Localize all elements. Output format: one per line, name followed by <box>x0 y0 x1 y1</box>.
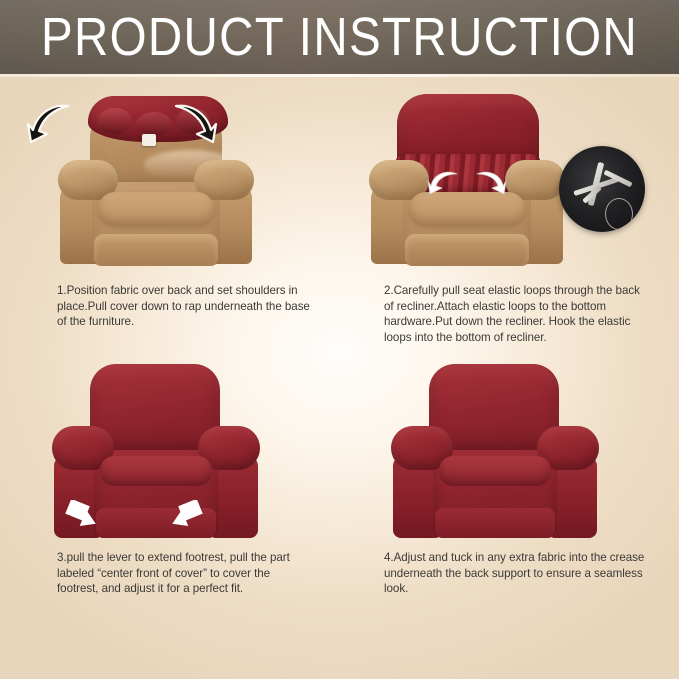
fabric-care-tag <box>142 134 156 146</box>
step-1-caption: 1.Position fabric over back and set shou… <box>57 283 312 330</box>
step-1-arrow-right-icon <box>170 100 220 150</box>
page-title: PRODUCT INSTRUCTION <box>41 8 639 66</box>
step-1-figure <box>18 86 338 271</box>
step-3-panel: 3.pull the lever to extend footrest, pul… <box>18 358 338 620</box>
step-1-arrow-left-icon <box>24 100 74 150</box>
recliner-base-skirt <box>94 234 218 266</box>
elastic-loop <box>605 198 633 230</box>
covered-base-skirt <box>435 508 555 538</box>
step-3-figure <box>18 358 338 543</box>
step-4-panel: 4.Adjust and tuck in any extra fabric in… <box>345 358 665 620</box>
product-instruction-infographic: PRODUCT INSTRUCTION <box>0 0 679 679</box>
step-2-arrow-left-icon <box>427 166 461 200</box>
fabric-fold <box>98 108 132 134</box>
step-4-caption: 4.Adjust and tuck in any extra fabric in… <box>384 550 646 597</box>
recliner-seat-cushion <box>98 192 214 226</box>
step-3-caption: 3.pull the lever to extend footrest, pul… <box>57 550 312 597</box>
covered-seat-cushion <box>100 456 212 486</box>
elastic-loop-hardware-closeup <box>559 146 645 232</box>
step-2-panel: 2.Carefully pull seat elastic loops thro… <box>345 86 665 366</box>
covered-seat-cushion <box>439 456 551 486</box>
step-2-caption: 2.Carefully pull seat elastic loops thro… <box>384 283 646 345</box>
step-1-panel: 1.Position fabric over back and set shou… <box>18 86 338 366</box>
finished-covered-recliner-front-view <box>391 364 601 540</box>
step-3-arrow-right-icon <box>164 500 204 532</box>
header-banner: PRODUCT INSTRUCTION <box>0 0 679 74</box>
recliner-with-fabric-draped-over-back <box>56 94 256 266</box>
recliner-with-back-covered-and-elastic-loops <box>367 94 567 266</box>
step-2-figure <box>345 86 665 271</box>
recliner-base-skirt <box>405 234 529 266</box>
step-3-arrow-left-icon <box>64 500 104 532</box>
step-2-arrow-right-icon <box>473 166 507 200</box>
step-4-figure <box>345 358 665 543</box>
fabric-fold <box>136 112 172 136</box>
header-underline <box>0 74 679 77</box>
